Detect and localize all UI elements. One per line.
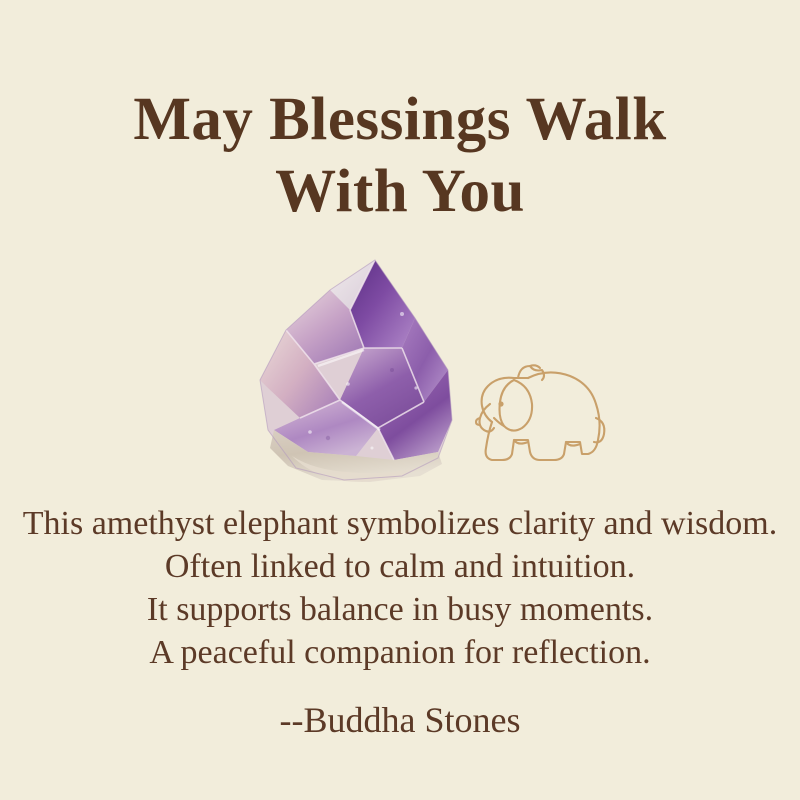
artwork-band xyxy=(0,248,800,494)
amethyst-crystal-icon xyxy=(252,252,460,488)
amethyst-crystal-image xyxy=(252,252,460,488)
title-line-2: With You xyxy=(0,156,800,228)
message-line-2: Often linked to calm and intuition. xyxy=(0,545,800,588)
page-title: May Blessings Walk With You xyxy=(0,84,800,228)
elephant-eye-icon xyxy=(498,401,503,406)
message-line-1: This amethyst elephant symbolizes clarit… xyxy=(0,502,800,545)
title-line-1: May Blessings Walk xyxy=(0,84,800,156)
message-body: This amethyst elephant symbolizes clarit… xyxy=(0,502,800,674)
attribution-text: --Buddha Stones xyxy=(0,697,800,743)
elephant-figurine-image xyxy=(470,356,610,478)
message-line-3: It supports balance in busy moments. xyxy=(0,588,800,631)
elephant-line-art-icon xyxy=(470,356,610,478)
message-line-4: A peaceful companion for reflection. xyxy=(0,631,800,674)
blessing-card: May Blessings Walk With You xyxy=(0,0,800,800)
